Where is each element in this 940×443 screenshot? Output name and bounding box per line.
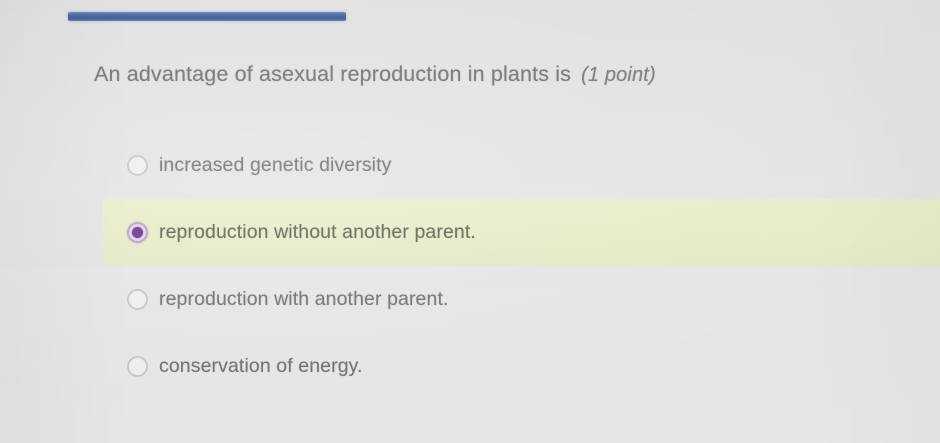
answer-option-3[interactable]: reproduction with another parent.: [0, 266, 940, 333]
answer-option-2[interactable]: reproduction without another parent.: [0, 199, 940, 266]
quiz-page: An advantage of asexual reproduction in …: [0, 0, 940, 443]
radio-button-icon[interactable]: [127, 155, 148, 176]
question-prompt: An advantage of asexual reproduction in …: [94, 62, 571, 86]
question-text: An advantage of asexual reproduction in …: [94, 62, 904, 87]
progress-bar: [68, 12, 346, 21]
radio-button-icon[interactable]: [127, 289, 148, 310]
radio-button-icon[interactable]: [127, 356, 148, 377]
answer-option-1[interactable]: increased genetic diversity: [0, 132, 940, 199]
progress-bar-fill: [68, 12, 346, 21]
question-points: (1 point): [581, 64, 656, 86]
answer-option-label: increased genetic diversity: [159, 154, 391, 177]
answer-option-label: reproduction without another parent.: [159, 221, 476, 244]
answer-option-label: reproduction with another parent.: [159, 288, 448, 311]
answer-option-label: conservation of energy.: [159, 355, 363, 378]
answer-options-list: increased genetic diversity reproduction…: [0, 132, 940, 400]
radio-button-selected-icon[interactable]: [127, 222, 148, 243]
answer-option-4[interactable]: conservation of energy.: [0, 333, 940, 400]
